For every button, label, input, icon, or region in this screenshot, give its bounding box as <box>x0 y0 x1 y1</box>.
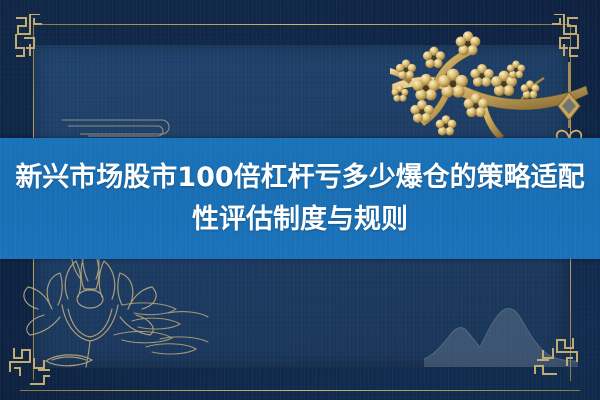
fret-corner-top-left-icon <box>12 14 52 60</box>
fret-corner-top-right-icon <box>538 14 582 62</box>
gold-frame-bottom-line <box>20 390 580 391</box>
title-line-1: 新兴市场股市100倍杠杆亏多少爆仓的策略适配 <box>15 158 584 198</box>
title-line-2: 性评估制度与规则 <box>192 200 408 240</box>
fret-corner-bottom-right-icon <box>533 330 579 390</box>
poster-canvas: 新兴市场股市100倍杠杆亏多少爆仓的策略适配 性评估制度与规则 <box>0 0 600 400</box>
fret-corner-bottom-left-icon <box>8 346 50 390</box>
poster-title: 新兴市场股市100倍杠杆亏多少爆仓的策略适配 性评估制度与规则 <box>0 138 600 259</box>
